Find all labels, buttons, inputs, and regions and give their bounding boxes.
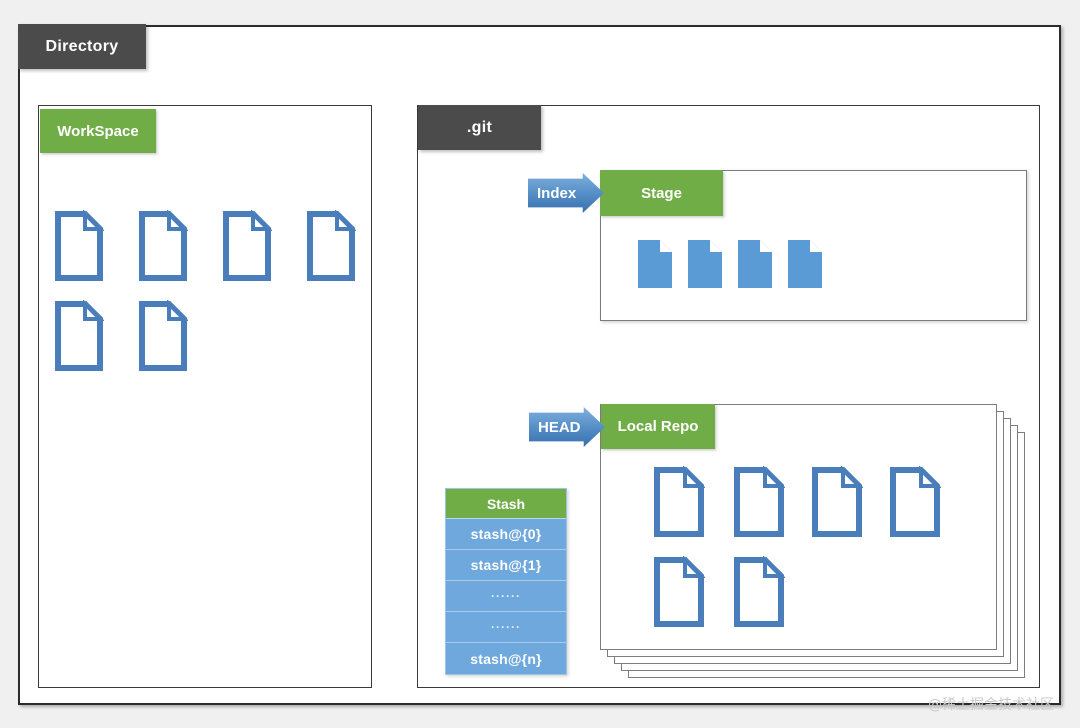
stage-label: Stage xyxy=(641,185,682,202)
stash-row-2-label: ······ xyxy=(491,589,521,603)
repo-doc-1 xyxy=(653,466,705,538)
stash-row-2: ······ xyxy=(446,581,566,612)
git-header-tab: .git xyxy=(418,105,541,150)
workspace-doc-4 xyxy=(306,210,356,282)
stage-doc-3 xyxy=(738,240,772,288)
stash-row-1: stash@{1} xyxy=(446,550,566,581)
git-label: .git xyxy=(467,119,492,137)
diagram-canvas: Directory WorkSpace xyxy=(0,0,1080,728)
repo-doc-3 xyxy=(811,466,863,538)
directory-title-label: Directory xyxy=(46,38,119,56)
stage-doc-2 xyxy=(688,240,722,288)
stash-row-1-label: stash@{1} xyxy=(471,557,542,573)
local-repo-header-tab: Local Repo xyxy=(601,404,715,449)
stash-row-0: stash@{0} xyxy=(446,519,566,550)
stage-header-tab: Stage xyxy=(600,170,723,216)
stage-doc-4 xyxy=(788,240,822,288)
stash-table-header: Stash xyxy=(446,489,566,519)
stash-row-4: stash@{n} xyxy=(446,643,566,674)
stash-header-label: Stash xyxy=(487,496,525,512)
workspace-doc-1 xyxy=(54,210,104,282)
repo-doc-5 xyxy=(653,556,705,628)
local-repo-label: Local Repo xyxy=(618,418,699,435)
watermark: @稀土掘金技术社区 xyxy=(928,694,1054,714)
head-arrow-label: HEAD xyxy=(538,419,581,436)
stage-doc-1 xyxy=(638,240,672,288)
workspace-doc-6 xyxy=(138,300,188,372)
repo-doc-2 xyxy=(733,466,785,538)
stash-row-4-label: stash@{n} xyxy=(470,651,541,667)
repo-doc-6 xyxy=(733,556,785,628)
stash-row-0-label: stash@{0} xyxy=(471,526,542,542)
workspace-label: WorkSpace xyxy=(57,123,138,140)
workspace-doc-5 xyxy=(54,300,104,372)
workspace-panel xyxy=(38,105,372,688)
workspace-doc-3 xyxy=(222,210,272,282)
workspace-doc-2 xyxy=(138,210,188,282)
directory-title-tab: Directory xyxy=(18,24,146,69)
workspace-header-tab: WorkSpace xyxy=(40,109,156,153)
stash-row-3-label: ······ xyxy=(491,620,521,634)
repo-doc-4 xyxy=(889,466,941,538)
stash-table: Stash stash@{0} stash@{1} ······ ······ … xyxy=(445,488,567,675)
index-arrow-label: Index xyxy=(537,185,576,202)
stash-row-3: ······ xyxy=(446,612,566,643)
